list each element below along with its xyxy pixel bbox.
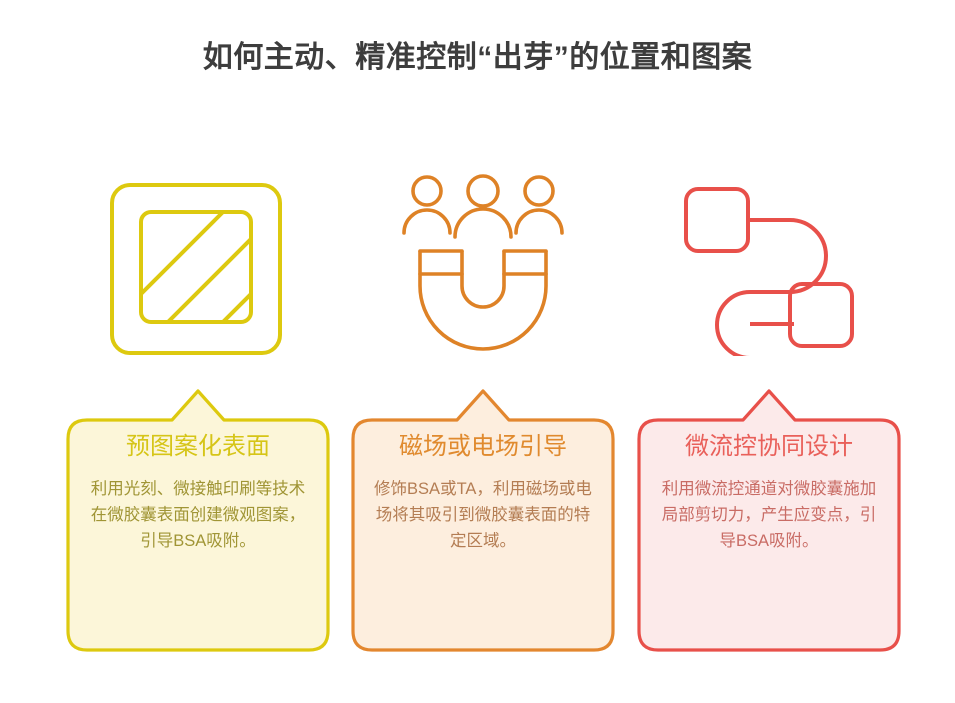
column-pre-patterned-surface: 预图案化表面 利用光刻、微接触印刷等技术在微胶囊表面创建微观图案，引导BSA吸附…	[55, 0, 341, 703]
slide-canvas: 如何主动、精准控制“出芽”的位置和图案	[0, 0, 955, 703]
microfluidic-channel-icon-svg	[672, 181, 867, 356]
card-text-block: 预图案化表面 利用光刻、微接触印刷等技术在微胶囊表面创建微观图案，引导BSA吸附…	[65, 430, 331, 554]
card-text-block: 磁场或电场引导 修饰BSA或TA，利用磁场或电场将其吸引到微胶囊表面的特定区域。	[350, 430, 616, 554]
card-body: 利用光刻、微接触印刷等技术在微胶囊表面创建微观图案，引导BSA吸附。	[81, 476, 315, 554]
card-title: 微流控协同设计	[652, 430, 886, 464]
patterned-square-icon	[55, 168, 341, 368]
column-microfluidic-design: 微流控协同设计 利用微流控通道对微胶囊施加局部剪切力，产生应变点，引导BSA吸附…	[626, 0, 912, 703]
card-pre-patterned-surface: 预图案化表面 利用光刻、微接触印刷等技术在微胶囊表面创建微观图案，引导BSA吸附…	[65, 388, 331, 653]
card-body: 利用微流控通道对微胶囊施加局部剪切力，产生应变点，引导BSA吸附。	[652, 476, 886, 554]
card-body: 修饰BSA或TA，利用磁场或电场将其吸引到微胶囊表面的特定区域。	[366, 476, 600, 554]
card-microfluidic-design: 微流控协同设计 利用微流控通道对微胶囊施加局部剪切力，产生应变点，引导BSA吸附…	[636, 388, 902, 653]
column-group: 预图案化表面 利用光刻、微接触印刷等技术在微胶囊表面创建微观图案，引导BSA吸附…	[0, 0, 955, 703]
magnet-attraction-icon	[340, 168, 626, 368]
card-title: 磁场或电场引导	[366, 430, 600, 464]
card-field-guidance: 磁场或电场引导 修饰BSA或TA，利用磁场或电场将其吸引到微胶囊表面的特定区域。	[350, 388, 616, 653]
card-title: 预图案化表面	[81, 430, 315, 464]
microfluidic-channel-icon	[626, 168, 912, 368]
magnet-attraction-icon-svg	[396, 173, 571, 363]
column-field-guidance: 磁场或电场引导 修饰BSA或TA，利用磁场或电场将其吸引到微胶囊表面的特定区域。	[340, 0, 626, 703]
patterned-square-icon-svg	[98, 181, 298, 356]
card-text-block: 微流控协同设计 利用微流控通道对微胶囊施加局部剪切力，产生应变点，引导BSA吸附…	[636, 430, 902, 554]
